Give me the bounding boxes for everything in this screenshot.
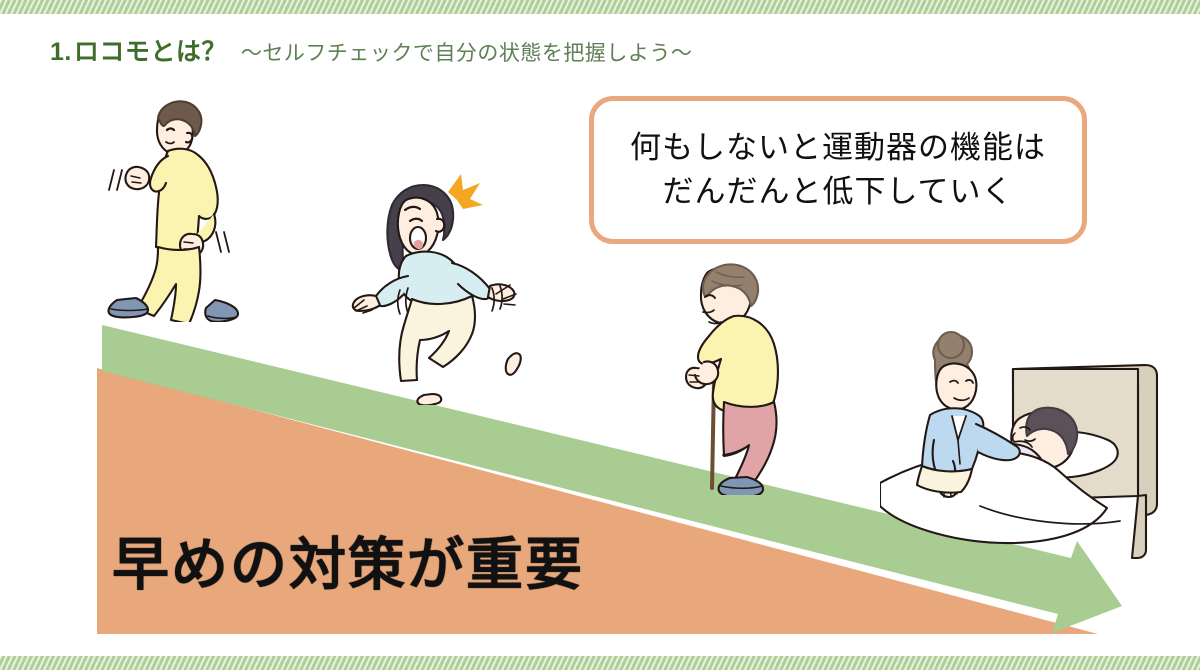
callout-line-1: 何もしないと運動器の機能は <box>630 126 1046 170</box>
bed-frame <box>1132 495 1146 558</box>
page-header: 1. ロコモとは？ 〜セルフチェックで自分の状態を把握しよう〜 <box>50 32 692 68</box>
callout-box: 何もしないと運動器の機能は だんだんと低下していく <box>589 96 1087 244</box>
slide-canvas: 1. ロコモとは？ 〜セルフチェックで自分の状態を把握しよう〜 早めの対策が重要… <box>0 0 1200 670</box>
striped-band-top <box>0 0 1200 14</box>
impact-burst-icon <box>448 174 483 209</box>
page-title: ロコモとは？ <box>74 32 227 68</box>
headline-text: 早めの対策が重要 <box>112 519 584 601</box>
callout-line-2: だんだんと低下していく <box>662 170 1013 214</box>
header-number: 1. <box>50 38 72 67</box>
page-subtitle: 〜セルフチェックで自分の状態を把握しよう〜 <box>241 37 693 67</box>
striped-band-bottom <box>0 656 1200 670</box>
figure-stumbling-person <box>340 160 555 410</box>
figure-walking-person <box>98 92 248 327</box>
figure-bedridden-and-caregiver <box>880 320 1185 570</box>
figure-cane-person <box>660 250 805 500</box>
